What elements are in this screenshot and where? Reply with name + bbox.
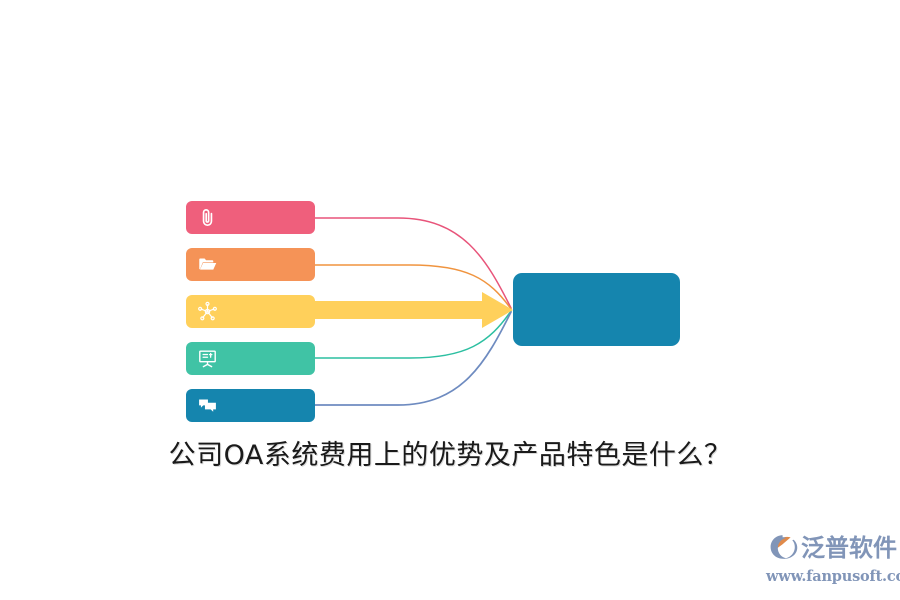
screenshot-canvas: 公司OA系统费用上的优势及产品特色是什么？ 泛普软件 www.fanpusoft… <box>0 0 900 600</box>
flow-row-attachment[interactable] <box>186 201 315 234</box>
presentation-board-icon <box>197 348 218 369</box>
paperclip-icon <box>197 207 218 228</box>
watermark: 泛普软件 www.fanpusoft.com <box>766 529 892 591</box>
connector-arrow-network <box>315 292 513 328</box>
flow-row-chat[interactable] <box>186 389 315 422</box>
folder-open-icon <box>197 254 218 275</box>
flow-connectors <box>0 0 900 430</box>
flow-row-network[interactable] <box>186 295 315 328</box>
watermark-logo-row: 泛普软件 <box>766 529 892 567</box>
connector-line-attachment <box>315 218 511 308</box>
flow-row-presentation[interactable] <box>186 342 315 375</box>
network-nodes-icon <box>197 301 218 322</box>
target-box[interactable] <box>513 273 680 346</box>
convergence-diagram <box>0 0 900 430</box>
chat-bubbles-icon <box>197 395 218 416</box>
watermark-brand: 泛普软件 <box>801 531 897 565</box>
watermark-url: www.fanpusoft.com <box>766 568 892 585</box>
page-caption: 公司OA系统费用上的优势及产品特色是什么？ <box>0 437 900 475</box>
flow-row-folder[interactable] <box>186 248 315 281</box>
fanpu-logo-icon <box>766 531 800 565</box>
